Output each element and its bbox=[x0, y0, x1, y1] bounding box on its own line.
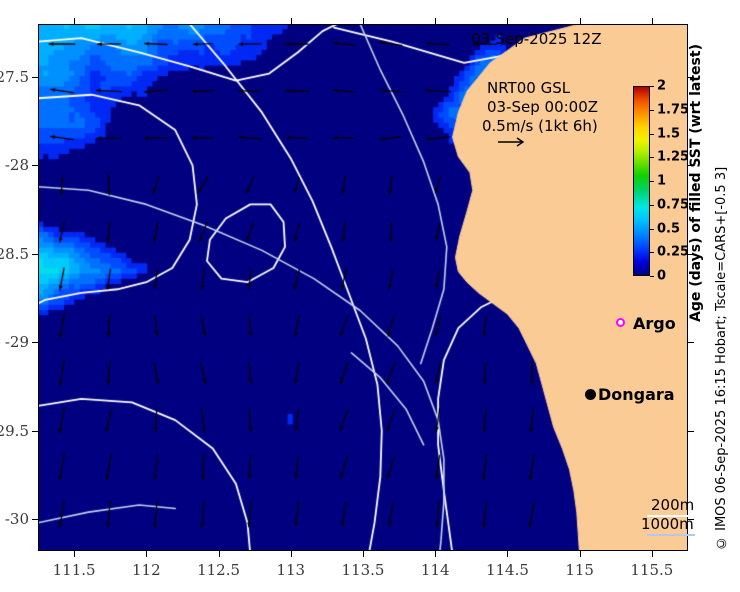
map-figure: 111.5112112.5113113.5114114.5115115.5 -2… bbox=[0, 0, 740, 592]
colorbar-tick bbox=[650, 252, 654, 253]
x-tick bbox=[74, 551, 75, 557]
argo-label: Argo bbox=[633, 314, 676, 333]
x-tick bbox=[652, 551, 653, 557]
source-time-label: 03-Sep 00:00Z bbox=[487, 98, 598, 116]
x-tick-top bbox=[74, 18, 75, 24]
x-tick-top bbox=[291, 18, 292, 24]
y-tick-label: -28.5 bbox=[0, 245, 29, 263]
x-tick-top bbox=[363, 18, 364, 24]
x-tick-label: 115 bbox=[565, 561, 594, 579]
y-tick-right bbox=[688, 431, 694, 432]
colorbar-title: Age (days) of filled SST (wrt latest) bbox=[688, 83, 710, 283]
colorbar bbox=[633, 86, 650, 276]
credit-label: © IMOS 06-Sep-2025 16:15 Hobart; Tscale=… bbox=[714, 120, 734, 550]
colorbar-tick bbox=[650, 181, 654, 182]
y-tick bbox=[32, 77, 38, 78]
colorbar-tick bbox=[650, 157, 654, 158]
y-tick-label: -30 bbox=[5, 510, 29, 528]
vector-scale-label: 0.5m/s (1kt 6h) bbox=[482, 117, 598, 135]
x-tick-top bbox=[435, 18, 436, 24]
y-tick-label: -27.5 bbox=[0, 68, 29, 86]
x-tick bbox=[507, 551, 508, 557]
x-tick-top bbox=[652, 18, 653, 24]
colorbar-tick-label: 0.75 bbox=[657, 197, 689, 212]
x-tick bbox=[435, 551, 436, 557]
colorbar-tick-label: 0.5 bbox=[657, 221, 680, 236]
colorbar-tick bbox=[650, 229, 654, 230]
y-tick-label: -28 bbox=[5, 156, 29, 174]
colorbar-tick-label: 1.5 bbox=[657, 126, 680, 141]
colorbar-tick bbox=[650, 276, 654, 277]
x-tick-label: 111.5 bbox=[53, 561, 96, 579]
x-tick-label: 112.5 bbox=[197, 561, 240, 579]
depth-legend-200m-label: 200m bbox=[651, 496, 694, 514]
x-tick-top bbox=[507, 18, 508, 24]
colorbar-tick bbox=[650, 110, 654, 111]
colorbar-tick-label: 1.25 bbox=[657, 150, 689, 165]
y-tick-label: -29.5 bbox=[0, 422, 29, 440]
dongara-marker-icon bbox=[585, 389, 596, 400]
colorbar-tick-label: 0.25 bbox=[657, 245, 689, 260]
x-tick bbox=[580, 551, 581, 557]
depth-legend-1000m-line bbox=[647, 534, 695, 536]
reference-arrow-icon bbox=[497, 136, 527, 148]
colorbar-tick bbox=[650, 134, 654, 135]
y-tick bbox=[32, 165, 38, 166]
x-tick-label: 113.5 bbox=[342, 561, 385, 579]
colorbar-tick bbox=[650, 205, 654, 206]
x-tick-label: 115.5 bbox=[630, 561, 673, 579]
colorbar-tick-label: 1 bbox=[657, 174, 666, 189]
x-tick bbox=[146, 551, 147, 557]
x-tick-label: 113 bbox=[276, 561, 305, 579]
x-tick bbox=[291, 551, 292, 557]
y-tick bbox=[32, 254, 38, 255]
x-tick-top bbox=[580, 18, 581, 24]
x-tick-top bbox=[219, 18, 220, 24]
y-tick bbox=[32, 342, 38, 343]
source-model-label: NRT00 GSL bbox=[487, 79, 570, 97]
x-tick-label: 112 bbox=[132, 561, 161, 579]
argo-marker-icon bbox=[616, 318, 625, 327]
colorbar-tick-label: 1.75 bbox=[657, 102, 689, 117]
x-tick-label: 114 bbox=[421, 561, 450, 579]
x-tick bbox=[219, 551, 220, 557]
y-tick bbox=[32, 519, 38, 520]
depth-legend-1000m-label: 1000m bbox=[641, 515, 694, 533]
x-tick bbox=[363, 551, 364, 557]
dongara-label: Dongara bbox=[598, 385, 675, 404]
colorbar-tick-label: 0 bbox=[657, 269, 666, 284]
y-tick-label: -29 bbox=[5, 333, 29, 351]
colorbar-tick-label: 2 bbox=[657, 79, 666, 94]
x-tick-label: 114.5 bbox=[486, 561, 529, 579]
date-label: 03-Sep-2025 12Z bbox=[471, 30, 602, 48]
y-tick-right bbox=[688, 342, 694, 343]
y-tick bbox=[32, 431, 38, 432]
x-tick-top bbox=[146, 18, 147, 24]
colorbar-tick bbox=[650, 86, 654, 87]
